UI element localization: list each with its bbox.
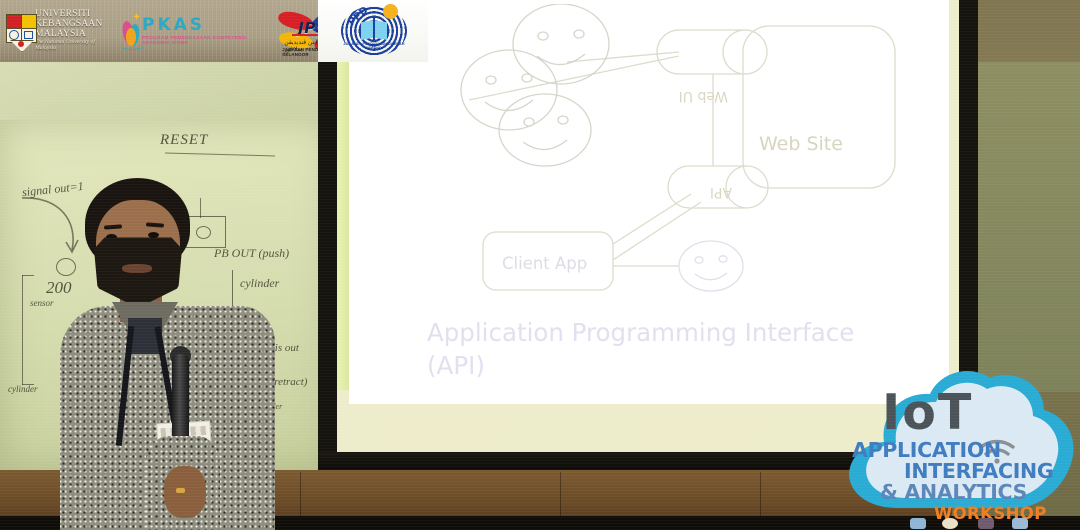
ppd-subtitle: JABATAN PENDIDIKAN DAERAH SEPANG [339,42,409,50]
foreground-object [978,518,994,529]
whiteboard-bracket-top [22,275,34,276]
pkas-logo: ✦ PKAS PROGRAM PEMERKASAAN KOMPETENSI AK… [120,13,260,49]
presenter-mouth [122,264,152,273]
web-ui-label: Web UI [688,88,728,104]
whiteboard-note: cylinder [8,384,38,394]
ukm-tagline: The National University of Malaysia [35,40,106,51]
whiteboard-note: RESET [160,132,208,149]
whiteboard-underline [165,153,275,157]
user-smiley-1 [461,50,557,130]
iot-mark: IoT [882,388,973,437]
ukm-logo: UNIVERSITI KEBANGSAAN MALAYSIA The Natio… [6,10,106,51]
whiteboard-bracket [22,275,23,385]
slide-content: Web Site Web UI API Client App Applicati… [349,4,949,404]
website-label: Web Site [759,133,843,155]
presenter-hand [164,466,206,518]
whiteboard-note: sensor [30,298,54,308]
ukm-line-3: MALAYSIA [35,30,106,40]
website-box [743,26,895,188]
screenshot-root: RESET signal out=1 200 sensor PB OUT (pu… [0,0,1080,530]
connector-clientapp-api [613,194,691,244]
slide-title-line-1: Application Programming Interface [427,316,947,349]
iot-line-3: & ANALYTICS [880,480,1080,504]
connector-user2-webui [567,52,679,62]
foreground-object [942,518,958,529]
web-ui-notch [723,30,745,74]
ppd-logo: PPD JABATAN PENDIDIKAN DAERAH SEPANG [333,2,417,60]
connector-clientapp-api2 [613,202,701,260]
bottom-foreground-objects [900,516,1080,530]
pkas-subtitle: PROGRAM PEMERKASAAN KOMPETENSI AKADEMIK … [142,36,260,45]
connector-user1-webui [469,56,679,100]
projector-screen-edge-strip [337,60,349,390]
foreground-object [1012,518,1028,529]
user-smiley-4 [679,241,743,291]
pkas-figure-icon: ✦ [120,13,139,49]
pkas-wordmark: PKAS PROGRAM PEMERKASAAN KOMPETENSI AKAD… [142,17,260,45]
client-app-label: Client App [502,254,587,273]
iot-workshop-logo: IoT APPLICATION INTERFACING & ANALYTICS … [838,358,1080,530]
ppd-pen-icon [373,18,375,40]
ukm-crest-icon [6,12,32,50]
ppd-sun-icon [383,4,398,19]
foreground-object [910,518,926,529]
api-label: API [706,184,736,200]
presenter-ring [176,488,185,493]
sponsor-banner: UNIVERSITI KEBANGSAAN MALAYSIA The Natio… [0,0,340,62]
presenter-eye [148,232,159,238]
wall-right-panel [975,62,1080,392]
pkas-acronym: PKAS [142,17,260,34]
user-smiley-2 [513,4,609,84]
ukm-wordmark: UNIVERSITI KEBANGSAAN MALAYSIA The Natio… [35,10,106,51]
presenter [60,178,275,530]
